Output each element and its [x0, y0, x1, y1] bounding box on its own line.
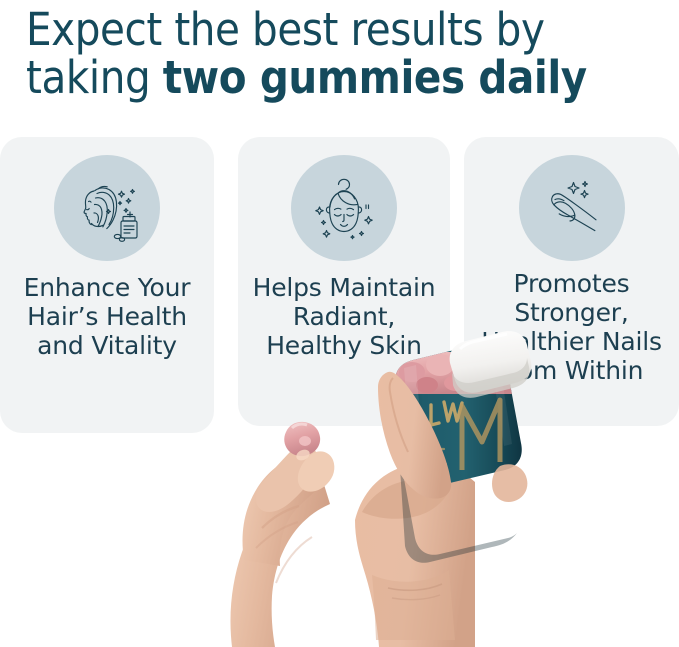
benefit-card-skin-text: Helps Maintain Radiant, Healthy Skin	[244, 273, 444, 360]
headline-line-2: taking two gummies daily	[26, 54, 666, 102]
benefit-cards-row: Enhance Your Hair’s Health and Vitality	[0, 137, 679, 437]
fingernail-sparkle-icon	[519, 155, 625, 261]
benefit-card-nails-text: Promotes Stronger, Healthier Nails from …	[470, 269, 673, 385]
benefit-card-skin: Helps Maintain Radiant, Healthy Skin	[238, 137, 450, 426]
page-headline: Expect the best results by taking two gu…	[26, 6, 666, 102]
left-hand-holding-gummy	[230, 422, 334, 647]
headline-line-2-bold: two gummies daily	[163, 51, 587, 104]
right-hand-holding-bottle	[355, 463, 475, 647]
benefit-card-nails: Promotes Stronger, Healthier Nails from …	[464, 137, 679, 426]
benefit-card-hair-text: Enhance Your Hair’s Health and Vitality	[6, 273, 208, 360]
headline-line-2-plain: taking	[26, 51, 163, 104]
radiant-face-icon	[291, 155, 397, 261]
benefit-card-hair: Enhance Your Hair’s Health and Vitality	[0, 137, 214, 433]
headline-line-1: Expect the best results by	[26, 6, 666, 54]
bottle-label-text	[419, 449, 447, 485]
hair-sparkle-bottle-icon	[54, 155, 160, 261]
